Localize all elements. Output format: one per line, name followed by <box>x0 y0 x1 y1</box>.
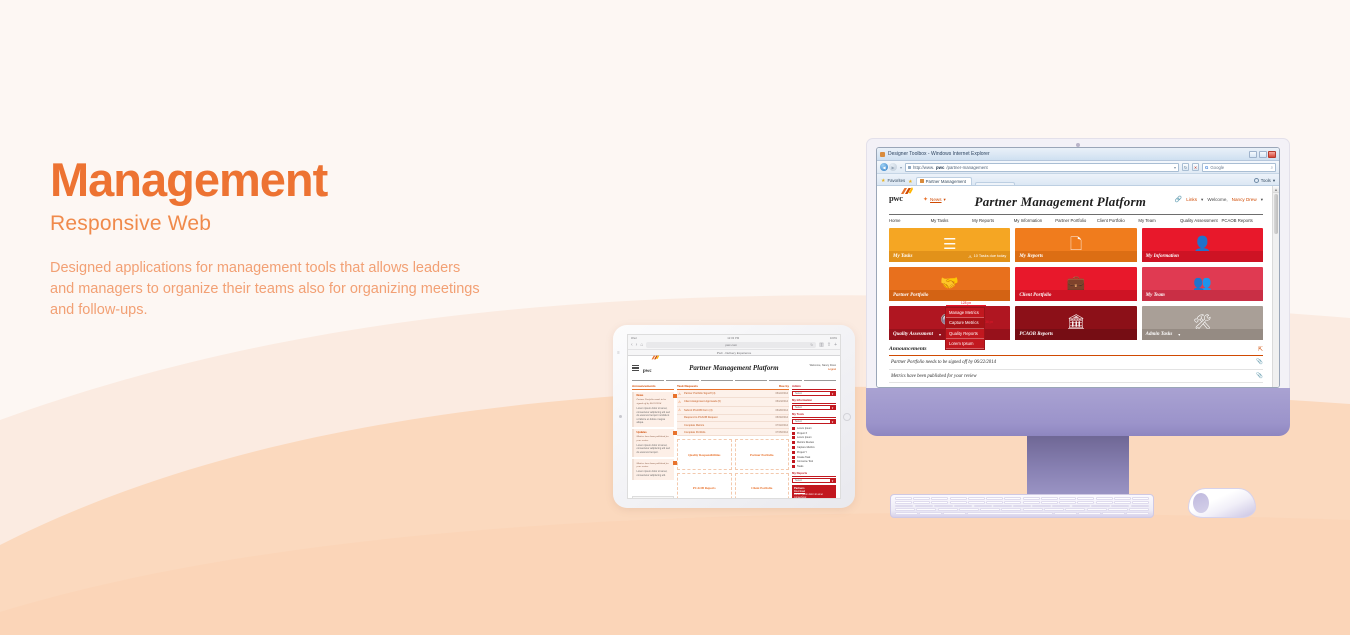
tile-label: Admin Tasks <box>1146 332 1173 337</box>
app-header: pwc ✦ News ▾ Partner Management Platform… <box>889 193 1263 210</box>
reports-card[interactable]: PartnersDownloadLorem ipsum dolor sit am… <box>792 485 836 499</box>
chevron-down-icon: ▾ <box>1273 178 1275 184</box>
browser-title-bar: Designer Toolbox - Windows Internet Expl… <box>877 148 1279 161</box>
back-icon[interactable]: ‹ <box>631 342 633 348</box>
tile-label-bar: Partner Portfolio <box>889 290 1010 301</box>
keyboard-key[interactable] <box>1126 512 1149 515</box>
pwc-logo: pwc <box>889 193 913 203</box>
keyboard-key[interactable] <box>895 508 915 511</box>
nav-item-my-reports[interactable]: My Reports <box>972 214 1014 223</box>
tile-label-bar: My Team <box>1142 290 1263 301</box>
user-caret-icon[interactable]: ▾ <box>1261 197 1263 203</box>
search-icon[interactable]: ⌕ <box>1271 165 1273 170</box>
news-card[interactable]: NewsPartner Portfolio needs to be signed… <box>632 392 674 427</box>
select-my-tools[interactable]: Select▾ <box>792 419 836 424</box>
select-admin[interactable]: Select▾ <box>792 391 836 396</box>
warning-icon: ⚠ <box>678 408 682 412</box>
scroll-thumb[interactable] <box>1274 194 1278 234</box>
keyboard-key[interactable] <box>1077 497 1094 500</box>
search-input[interactable]: G Google ⌕ <box>1202 163 1276 172</box>
mouse[interactable] <box>1188 488 1256 518</box>
right-section-admin: AdminSelect▾ <box>792 384 836 396</box>
tile-label-bar: PCAOB Reports <box>1015 329 1136 340</box>
keyboard-key[interactable] <box>1078 512 1101 515</box>
dropdown-history-icon[interactable]: ▾ <box>900 165 902 170</box>
tile-label-bar: Client Portfolio <box>1015 290 1136 301</box>
keyboard-row <box>895 512 1149 515</box>
announcement-row[interactable]: Metrics have been published for your rev… <box>889 383 1263 387</box>
announcement-text: Metrics have been published for your rev… <box>891 374 977 379</box>
select-value: Select <box>795 392 802 395</box>
quick-tile-partner-portfolio[interactable]: Partner Portfolio <box>735 439 790 470</box>
tile-label: Partner Portfolio <box>893 293 928 298</box>
tile-label: My Information <box>1146 254 1179 259</box>
task-name: Complete Portfolio <box>684 431 705 434</box>
task-row[interactable]: ⚠Partner Portfolio Signoff (4)06/22/2014 <box>677 390 789 398</box>
tabs-icon[interactable]: ▥ <box>819 342 824 348</box>
task-row[interactable]: Complete Metrics07/02/2014 <box>677 422 789 429</box>
task-row[interactable]: Complete Portfolio07/05/2014 <box>677 429 789 436</box>
keyboard-key[interactable] <box>968 501 985 504</box>
keyboard-key[interactable] <box>1032 505 1050 508</box>
announcements-heading: Announcements <box>889 346 927 352</box>
tile-my-tasks[interactable]: ☰My Tasks⚠10 Tasks due today <box>889 228 1010 262</box>
add-favorite-icon[interactable]: ★ <box>908 179 912 185</box>
keyboard[interactable] <box>890 494 1154 518</box>
share-icon[interactable]: ⇧ <box>827 342 831 348</box>
tasks-due-heading: Due by <box>779 384 789 388</box>
keyboard-key[interactable] <box>919 512 942 515</box>
chevron-down-icon[interactable]: ▾ <box>830 479 835 482</box>
safari-chrome: iPad 12:03 PM 100% ‹ › ⌂ pwc.com ↻ ▥ ⇧ +… <box>628 335 840 356</box>
new-tab-icon[interactable]: + <box>834 342 837 348</box>
bullet-icon <box>792 451 795 454</box>
tools-list-label: Create Task <box>797 456 810 459</box>
keyboard-key[interactable] <box>913 501 930 504</box>
height-annotation: 36 px <box>985 320 993 324</box>
browser-tab-strip: ★ Favorites ★ Partner Management Tools ▾ <box>877 174 1279 186</box>
imac-screen: Designer Toolbox - Windows Internet Expl… <box>866 138 1290 388</box>
url-prefix: http://www. <box>913 165 934 170</box>
chevron-down-icon[interactable]: ▾ <box>939 332 941 337</box>
keyboard-key[interactable] <box>1091 505 1109 508</box>
pwc-logo-text: pwc <box>643 369 652 374</box>
links-icon: 🔗 <box>1175 196 1182 203</box>
tile-label-bar: My Reports <box>1015 251 1136 262</box>
attachment-icon[interactable]: 📎 <box>1256 359 1263 365</box>
nav-item-quality-assessment[interactable]: Quality Assessment <box>1180 214 1222 223</box>
url-domain: pwc <box>936 165 944 170</box>
scroll-up-button[interactable]: ▲ <box>1273 186 1279 193</box>
tile-label: My Tasks <box>893 254 912 259</box>
bullet-icon <box>792 465 795 468</box>
user-name[interactable]: Nancy Drew <box>1232 197 1257 202</box>
favorites-button[interactable]: ★ Favorites <box>881 178 905 186</box>
keyboard-key[interactable] <box>895 505 913 508</box>
links-caret-icon[interactable]: ▾ <box>1201 197 1203 203</box>
close-button[interactable] <box>1268 151 1276 158</box>
section-heading: Admin <box>792 384 836 390</box>
tile-partner-portfolio[interactable]: 🤝Partner Portfolio <box>889 267 1010 301</box>
tab-label: Partner Management <box>926 179 966 184</box>
keyboard-row <box>895 497 1149 500</box>
user-area: 🔗 Links ▾ Welcome, Nancy Drew ▾ <box>1175 196 1263 203</box>
tools-label: Tools <box>1261 178 1271 183</box>
page-icon <box>880 152 885 157</box>
keyboard-key[interactable] <box>1072 505 1090 508</box>
keyboard-key[interactable] <box>986 501 1003 504</box>
google-icon: G <box>1205 165 1208 170</box>
pwc-logo-mark <box>900 187 913 195</box>
desktop-mockup: Designer Toolbox - Windows Internet Expl… <box>866 138 1290 507</box>
logout-link[interactable]: Logout <box>828 368 836 371</box>
search-placeholder: Google <box>1210 165 1224 170</box>
keyboard-key[interactable] <box>950 497 967 500</box>
safari-url: pwc.com <box>725 343 737 347</box>
app-title: Partner Management Platform <box>956 194 1165 210</box>
dropdown-item-lorem-ipsum[interactable]: Lorem Ipsum <box>946 339 984 349</box>
keyboard-key[interactable] <box>915 505 933 508</box>
task-due-date: 07/05/2014 <box>775 431 788 434</box>
tools-list-label: Metrics Review <box>797 441 814 444</box>
imac-stand-neck <box>1027 436 1129 499</box>
news-body: Lorem ipsum dolor sit amet, consectetur … <box>637 407 672 425</box>
task-row[interactable]: ⚠Submit PCAOB Form (3)06/28/2014 <box>677 407 789 415</box>
expand-icon[interactable]: ⇱ <box>1258 346 1263 353</box>
keyboard-key[interactable] <box>1065 508 1085 511</box>
favorites-label: Favorites <box>887 178 905 183</box>
task-due-date: 06/22/2014 <box>775 392 788 395</box>
keyboard-key[interactable] <box>1059 497 1076 500</box>
tools-list-label: Project Y <box>797 451 807 454</box>
keyboard-key[interactable] <box>1114 497 1131 500</box>
bullet-icon <box>792 446 795 449</box>
hamburger-icon[interactable] <box>632 365 639 371</box>
announcement-row[interactable]: Metrics have been published for your rev… <box>889 370 1263 384</box>
keyboard-key[interactable] <box>895 512 918 515</box>
app-scrollbar[interactable]: ▲ <box>1272 186 1279 387</box>
welcome-label: Welcome, <box>1207 197 1227 202</box>
keyboard-key[interactable] <box>931 497 948 500</box>
tools-list-label: Lorem Ipsum <box>797 427 812 430</box>
keyboard-key[interactable] <box>1077 501 1094 504</box>
keyboard-key[interactable] <box>986 497 1003 500</box>
page-description: Designed applications for management too… <box>50 258 480 321</box>
page-title-label: PwC - Delivery Experience <box>717 351 751 355</box>
bullet-icon <box>792 456 795 459</box>
keyboard-key[interactable] <box>931 501 948 504</box>
back-button[interactable]: ◀ <box>880 163 888 171</box>
tile-label: My Team <box>1146 293 1165 298</box>
page-security-icon <box>908 166 911 169</box>
keyboard-key[interactable] <box>1131 505 1149 508</box>
keyboard-key[interactable] <box>938 508 958 511</box>
tile-admin-tasks[interactable]: 🛠Admin Tasks▾ <box>1142 306 1263 340</box>
tools-menu[interactable]: Tools ▾ <box>1254 178 1275 186</box>
tile-my-team[interactable]: 👥My Team <box>1142 267 1263 301</box>
tablet-right-column: AdminSelect▾My InformationSelect▾My Tool… <box>792 384 836 499</box>
keyboard-key[interactable] <box>1001 508 1021 511</box>
tools-list-label: Consume Tool <box>797 460 813 463</box>
tile-client-portfolio[interactable]: 💼Client Portfolio <box>1015 267 1136 301</box>
window-title: Designer Toolbox - Windows Internet Expl… <box>888 151 990 157</box>
task-due-date: 06/30/2014 <box>775 416 788 419</box>
minimize-button[interactable] <box>1249 151 1257 158</box>
pwc-logo-mark <box>651 355 659 360</box>
keyboard-key[interactable] <box>1102 512 1125 515</box>
nav-item-home[interactable]: Home <box>889 214 931 223</box>
task-name: Respond to PCAOB Request <box>684 416 717 419</box>
tablet-user-area: Welcome, Nancy Drew Logout <box>810 364 836 372</box>
imac-camera-icon <box>1076 143 1080 147</box>
forward-icon[interactable]: › <box>636 342 638 348</box>
dropdown-item-manage-metrics[interactable]: Manage Metrics <box>946 308 984 318</box>
task-row[interactable]: Respond to PCAOB Request06/30/2014 <box>677 415 789 422</box>
news-flag-icon <box>673 431 677 435</box>
hero-copy: Management Responsive Web Designed appli… <box>50 155 520 321</box>
keyboard-key[interactable] <box>1087 508 1107 511</box>
select-my-reports[interactable]: Select▾ <box>792 478 836 483</box>
keyboard-key[interactable] <box>1129 508 1149 511</box>
pwc-app-viewport: pwc ✦ News ▾ Partner Management Platform… <box>877 186 1272 387</box>
announcement-text: Partner Portfolio needs to be signed off… <box>891 360 996 365</box>
news-icon: ✦ <box>923 196 928 203</box>
tablet-home-button[interactable] <box>843 413 851 421</box>
page-title: Management <box>50 155 520 204</box>
keyboard-key[interactable] <box>1132 501 1149 504</box>
select-value: Select <box>795 479 802 482</box>
news-link[interactable]: ✦ News ▾ <box>923 196 946 203</box>
keyboard-key[interactable] <box>1013 505 1031 508</box>
keyboard-key[interactable] <box>895 497 912 500</box>
select-value: Select <box>795 420 802 423</box>
quality-assessment-dropdown[interactable]: 128 pxManage MetricsCapture Metrics36 px… <box>945 307 985 351</box>
bullet-icon <box>792 432 795 435</box>
section-heading: My Reports <box>792 471 836 477</box>
browser-tab-active[interactable]: Partner Management <box>916 177 972 186</box>
reports-card-body: Lorem ipsum dolor sit amet consectetur. <box>794 493 834 499</box>
keyboard-key[interactable] <box>913 497 930 500</box>
tablet-app-title: Partner Management Platform <box>662 364 806 372</box>
keyboard-row <box>895 505 1149 508</box>
tile-pcaob-reports[interactable]: 🏛PCAOB Reports <box>1015 306 1136 340</box>
clock: 12:03 PM <box>637 336 830 340</box>
keyboard-key[interactable] <box>968 497 985 500</box>
keyboard-key[interactable] <box>1096 497 1113 500</box>
internet-explorer-window: Designer Toolbox - Windows Internet Expl… <box>876 147 1280 388</box>
nav-item-my-information[interactable]: My Information <box>1014 214 1056 223</box>
keyboard-key[interactable] <box>959 508 979 511</box>
bullet-icon <box>792 460 795 463</box>
bullet-icon <box>792 427 795 430</box>
task-name: Complete Metrics <box>684 424 704 427</box>
safari-toolbar: ‹ › ⌂ pwc.com ↻ ▥ ⇧ + <box>628 340 840 349</box>
tools-list-item[interactable]: Tasks <box>792 464 836 469</box>
keyboard-key[interactable] <box>943 512 966 515</box>
news-kind: News <box>637 394 672 397</box>
keyboard-key[interactable] <box>916 508 936 511</box>
keyboard-key[interactable] <box>934 505 952 508</box>
stop-button[interactable]: ✕ <box>1192 163 1199 171</box>
keyboard-key[interactable] <box>1114 501 1131 504</box>
bullet-icon <box>792 441 795 444</box>
app-nav: HomeMy TasksMy ReportsMy InformationPart… <box>889 214 1263 223</box>
keyboard-key[interactable] <box>895 501 912 504</box>
tile-my-reports[interactable]: 🗋My Reports <box>1015 228 1136 262</box>
forward-button[interactable]: ▶ <box>889 163 897 171</box>
address-bar[interactable]: http://www.pwc/partner-management ▾ <box>905 163 1179 172</box>
dropdown-item-quality-reports[interactable]: Quality Reports <box>946 329 984 339</box>
view-all-button[interactable]: View all <box>632 496 674 499</box>
tablet-screen: iPad 12:03 PM 100% ‹ › ⌂ pwc.com ↻ ▥ ⇧ +… <box>627 334 841 499</box>
tile-quality-assessment[interactable]: 🔍Quality Assessment▾128 pxManage Metrics… <box>889 306 1010 340</box>
tablet-tasks-column: Task Requests Due by ⚠Partner Portfolio … <box>677 384 789 499</box>
tile-grid: ☰My Tasks⚠10 Tasks due today🗋My Reports👤… <box>889 228 1263 340</box>
announcements-section: Announcements ⇱ Partner Portfolio needs … <box>889 346 1263 387</box>
attachment-icon[interactable]: 📎 <box>1256 373 1263 379</box>
tools-list-label: Lorem Ipsum <box>797 436 812 439</box>
warning-icon: ⚠ <box>678 400 682 404</box>
news-body: Lorem ipsum dolor sit amet, consectetur … <box>637 444 672 455</box>
keyboard-key[interactable] <box>954 505 972 508</box>
keyboard-key[interactable] <box>1004 497 1021 500</box>
tab-favicon <box>920 179 924 183</box>
tile-badge: ⚠10 Tasks due today <box>968 254 1006 259</box>
chevron-down-icon[interactable]: ▾ <box>830 420 835 423</box>
keyboard-key[interactable] <box>1041 501 1058 504</box>
tile-label: My Reports <box>1019 254 1043 259</box>
task-due-date: 06/28/2014 <box>775 409 788 412</box>
keyboard-key[interactable] <box>967 512 1052 515</box>
chevron-down-icon[interactable]: ▾ <box>1178 332 1180 337</box>
right-section-my-reports: My ReportsSelect▾PartnersDownloadLorem i… <box>792 471 836 499</box>
news-kind: Updates <box>637 431 672 434</box>
task-row[interactable]: ⚠Client Assignment Approvals (6)06/24/20… <box>677 398 789 406</box>
tile-label-bar: My Information <box>1142 251 1263 262</box>
tools-list: Lorem IpsumProject XLorem IpsumMetrics R… <box>792 426 836 469</box>
keyboard-row <box>895 508 1149 511</box>
keyboard-key[interactable] <box>1108 508 1128 511</box>
news-flag-icon <box>673 461 677 465</box>
keyboard-key[interactable] <box>1052 505 1070 508</box>
quick-tiles: Quality ResponsibilitiesPartner Portfoli… <box>677 439 789 499</box>
welcome-text: Welcome, Nancy Drew <box>810 364 836 367</box>
imac-chin <box>866 388 1290 436</box>
nav-item-partner-portfolio[interactable]: Partner Portfolio <box>1055 214 1097 223</box>
tablet-nav-divider <box>632 380 836 381</box>
news-flag-icon <box>673 394 677 398</box>
news-label: News <box>930 197 942 202</box>
right-section-my-tools: My ToolsSelect▾Lorem IpsumProject XLorem… <box>792 412 836 469</box>
tablet-mockup: iPad 12:03 PM 100% ‹ › ⌂ pwc.com ↻ ▥ ⇧ +… <box>613 325 855 508</box>
task-name: Submit PCAOB Form (3) <box>684 409 713 412</box>
quick-tile-pcaob-reports[interactable]: PCAOB Reports <box>677 473 732 499</box>
tools-list-label: Capture Metrics <box>797 446 815 449</box>
keyboard-key[interactable] <box>1111 505 1129 508</box>
new-tab-button[interactable] <box>975 182 1015 186</box>
window-controls[interactable] <box>1249 151 1276 158</box>
tile-label: PCAOB Reports <box>1019 332 1053 337</box>
news-card[interactable]: UpdatesMetrics have been published for y… <box>632 429 674 457</box>
tasks-heading: Task Requests <box>677 384 698 388</box>
star-icon: ★ <box>881 178 885 184</box>
announcement-row[interactable]: Partner Portfolio needs to be signed off… <box>889 356 1263 370</box>
section-heading: My Information <box>792 398 836 404</box>
nav-item-client-portfolio[interactable]: Client Portfolio <box>1097 214 1139 223</box>
bookmarks-icon[interactable]: ⌂ <box>640 342 643 348</box>
keyboard-key[interactable] <box>1023 508 1043 511</box>
browser-toolbar: ◀ ▶ ▾ http://www.pwc/partner-management … <box>877 161 1279 174</box>
keyboard-key[interactable] <box>1059 501 1076 504</box>
chevron-down-icon[interactable]: ▾ <box>830 406 835 409</box>
news-card[interactable]: Metrics have been published for your rev… <box>632 459 674 480</box>
page-subtitle: Responsive Web <box>50 212 520 236</box>
news-headline: Partner Portfolio needs to be signed off… <box>637 398 672 405</box>
ios-status-bar: iPad 12:03 PM 100% <box>628 335 840 340</box>
tile-label-bar: My Tasks⚠10 Tasks due today <box>889 251 1010 262</box>
quick-tile-client-portfolio[interactable]: Client Portfolio <box>735 473 790 499</box>
reload-icon[interactable]: ↻ <box>810 343 813 347</box>
select-my-information[interactable]: Select▾ <box>792 405 836 410</box>
address-dropdown-icon[interactable]: ▾ <box>1174 165 1176 170</box>
keyboard-key[interactable] <box>1023 501 1040 504</box>
keyboard-key[interactable] <box>950 501 967 504</box>
gear-icon <box>1254 178 1259 183</box>
links-label[interactable]: Links <box>1186 197 1197 202</box>
keyboard-key[interactable] <box>980 508 1000 511</box>
task-due-date: 07/02/2014 <box>775 424 788 427</box>
safari-page-title: ☰ PwC - Delivery Experience <box>628 349 840 355</box>
tile-label: Client Portfolio <box>1019 293 1051 298</box>
battery-label: 100% <box>830 336 837 340</box>
pwc-logo-tablet: pwc <box>643 359 658 377</box>
keyboard-key[interactable] <box>993 505 1011 508</box>
keyboard-key[interactable] <box>1096 501 1113 504</box>
tablet-camera-icon <box>619 415 622 418</box>
keyboard-key[interactable] <box>1044 508 1064 511</box>
task-name: Client Assignment Approvals (6) <box>684 400 721 403</box>
chevron-down-icon[interactable]: ▾ <box>830 392 835 395</box>
keyboard-key[interactable] <box>1004 501 1021 504</box>
news-caret-icon: ▾ <box>944 197 946 203</box>
right-section-my-information: My InformationSelect▾ <box>792 398 836 410</box>
tile-label: Quality Assessment <box>893 332 933 337</box>
nav-item-my-team[interactable]: My Team <box>1138 214 1180 223</box>
news-headline: Metrics have been published for your rev… <box>637 435 672 442</box>
keyboard-key[interactable] <box>974 505 992 508</box>
quick-tile-quality-responsibilities[interactable]: Quality Responsibilities <box>677 439 732 470</box>
tile-badge-label: 10 Tasks due today <box>974 254 1007 258</box>
tools-list-label: Project X <box>797 432 807 435</box>
nav-item-pcaob-reports[interactable]: PCAOB Reports <box>1222 214 1264 223</box>
refresh-button[interactable]: ↻ <box>1182 163 1189 171</box>
safari-address-bar[interactable]: pwc.com ↻ <box>646 342 816 348</box>
nav-item-my-tasks[interactable]: My Tasks <box>931 214 973 223</box>
select-value: Select <box>795 406 802 409</box>
tile-my-information[interactable]: 👤My Information <box>1142 228 1263 262</box>
task-due-date: 06/24/2014 <box>775 400 788 403</box>
dropdown-item-capture-metrics[interactable]: Capture Metrics36 px <box>946 318 984 328</box>
keyboard-key[interactable] <box>1054 512 1077 515</box>
warning-icon: ⚠ <box>678 392 682 396</box>
keyboard-key[interactable] <box>1023 497 1040 500</box>
url-path: /partner-management <box>946 165 987 170</box>
width-annotation: 128 px <box>946 302 986 308</box>
keyboard-key[interactable] <box>1041 497 1058 500</box>
bullet-icon <box>792 436 795 439</box>
keyboard-key[interactable] <box>1132 497 1149 500</box>
maximize-button[interactable] <box>1259 151 1267 158</box>
